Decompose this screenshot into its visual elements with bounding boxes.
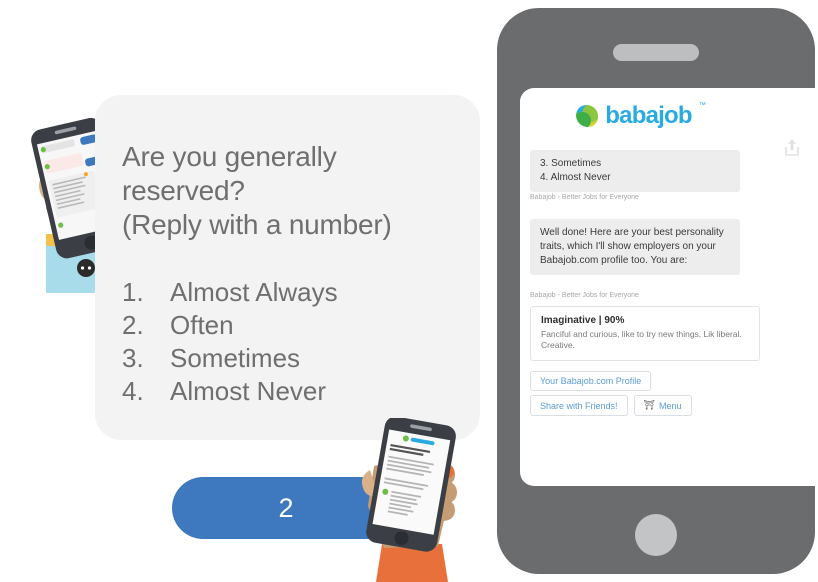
chat-message: Well done! Here are your best personalit…: [530, 219, 740, 275]
option-number: 4.: [122, 375, 170, 408]
trait-card-description: Fanciful and curious, like to try new th…: [541, 329, 749, 351]
trait-card: Imaginative | 90% Fanciful and curious, …: [530, 306, 760, 361]
question-text: Are you generally reserved? (Reply with …: [122, 140, 472, 242]
share-button-label: Share with Friends!: [540, 401, 618, 411]
slide-canvas: Are you generally reserved? (Reply with …: [0, 0, 818, 582]
option-number: 3.: [122, 342, 170, 375]
option-label: Almost Never: [170, 375, 462, 408]
quick-reply-row: Your Babajob.com Profile: [530, 371, 651, 391]
list-item[interactable]: 1. Almost Always: [122, 276, 462, 309]
chat-message-meta: Babajob - Better Jobs for Everyone: [530, 292, 639, 299]
profile-button-label: Your Babajob.com Profile: [540, 376, 641, 386]
question-line-2: reserved?: [122, 174, 472, 208]
option-label: Sometimes: [170, 342, 462, 375]
chat-message: 3. Sometimes 4. Almost Never: [530, 150, 740, 192]
phone-home-button[interactable]: [635, 514, 677, 556]
babajob-logo: babajob ™: [520, 94, 762, 138]
quick-reply-row: Share with Friends! ⛩ Menu: [530, 395, 692, 416]
right-hand-illustration: [344, 418, 476, 582]
home-icon: ⛩: [644, 400, 655, 411]
list-item[interactable]: 2. Often: [122, 309, 462, 342]
answer-options-list: 1. Almost Always 2. Often 3. Sometimes 4…: [122, 276, 462, 408]
profile-button[interactable]: Your Babajob.com Profile: [530, 371, 651, 391]
question-line-1: Are you generally: [122, 140, 472, 174]
babajob-blob-icon: [576, 105, 598, 127]
option-label: Almost Always: [170, 276, 462, 309]
babajob-wordmark: babajob: [605, 102, 691, 130]
option-number: 2.: [122, 309, 170, 342]
question-line-3: (Reply with a number): [122, 208, 472, 242]
list-item[interactable]: 3. Sometimes: [122, 342, 462, 375]
trademark-symbol: ™: [699, 102, 706, 109]
option-number: 1.: [122, 276, 170, 309]
chat-message-meta: Babajob - Better Jobs for Everyone: [530, 194, 639, 201]
share-icon[interactable]: [784, 138, 800, 156]
trait-card-title: Imaginative | 90%: [541, 315, 749, 326]
phone-speaker: [613, 44, 699, 61]
menu-button[interactable]: ⛩ Menu: [634, 395, 692, 416]
phone-mockup: babajob ™ 3. Sometimes 4. Almost Never B…: [497, 8, 815, 574]
share-button[interactable]: Share with Friends!: [530, 395, 628, 416]
list-item[interactable]: 4. Almost Never: [122, 375, 462, 408]
phone-screen: babajob ™ 3. Sometimes 4. Almost Never B…: [520, 88, 818, 486]
option-label: Often: [170, 309, 462, 342]
menu-button-label: Menu: [659, 401, 682, 411]
step-number-label: 2: [278, 495, 293, 522]
